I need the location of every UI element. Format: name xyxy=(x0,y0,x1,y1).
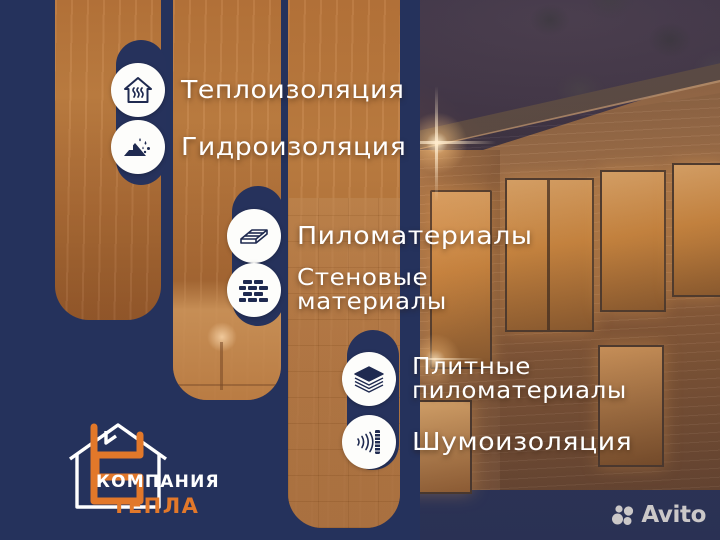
logo-line-2: ТЕПЛА xyxy=(112,494,199,518)
panel-stack-icon xyxy=(342,352,396,406)
service-item-shumoizolyaciya[interactable]: Шумоизоляция xyxy=(342,415,618,469)
service-item-gidroizolyaciya[interactable]: Гидроизоляция xyxy=(111,120,392,174)
brick-wall-icon xyxy=(227,263,281,317)
service-label: Гидроизоляция xyxy=(181,134,406,161)
house-heat-icon xyxy=(111,63,165,117)
service-item-pilomaterialy[interactable]: Пиломатериалы xyxy=(227,209,517,263)
avito-dots-icon xyxy=(611,503,635,527)
avito-label: Avito xyxy=(641,502,706,528)
service-label: Стеновые материалы xyxy=(297,266,447,315)
promotional-poster: Теплоизоляция Гидроизоляция xyxy=(0,0,720,540)
service-item-stenovye-materialy[interactable]: Стеновые материалы xyxy=(227,263,437,317)
sound-waves-panel-icon xyxy=(342,415,396,469)
service-item-plitnye-pilomaterialy[interactable]: Плитные пиломатериалы xyxy=(342,352,613,406)
service-label: Плитные пиломатериалы xyxy=(412,355,627,404)
service-item-teploizolyaciya[interactable]: Теплоизоляция xyxy=(111,63,390,117)
service-label: Теплоизоляция xyxy=(181,77,405,104)
service-label: Пиломатериалы xyxy=(297,223,533,250)
service-label: Шумоизоляция xyxy=(412,429,632,456)
company-logo[interactable]: КОМПАНИЯ ТЕПЛА xyxy=(44,415,224,520)
lumber-planks-icon xyxy=(227,209,281,263)
roof-water-drops-icon xyxy=(111,120,165,174)
logo-line-1: КОМПАНИЯ xyxy=(96,472,220,492)
avito-watermark: Avito xyxy=(611,502,706,528)
